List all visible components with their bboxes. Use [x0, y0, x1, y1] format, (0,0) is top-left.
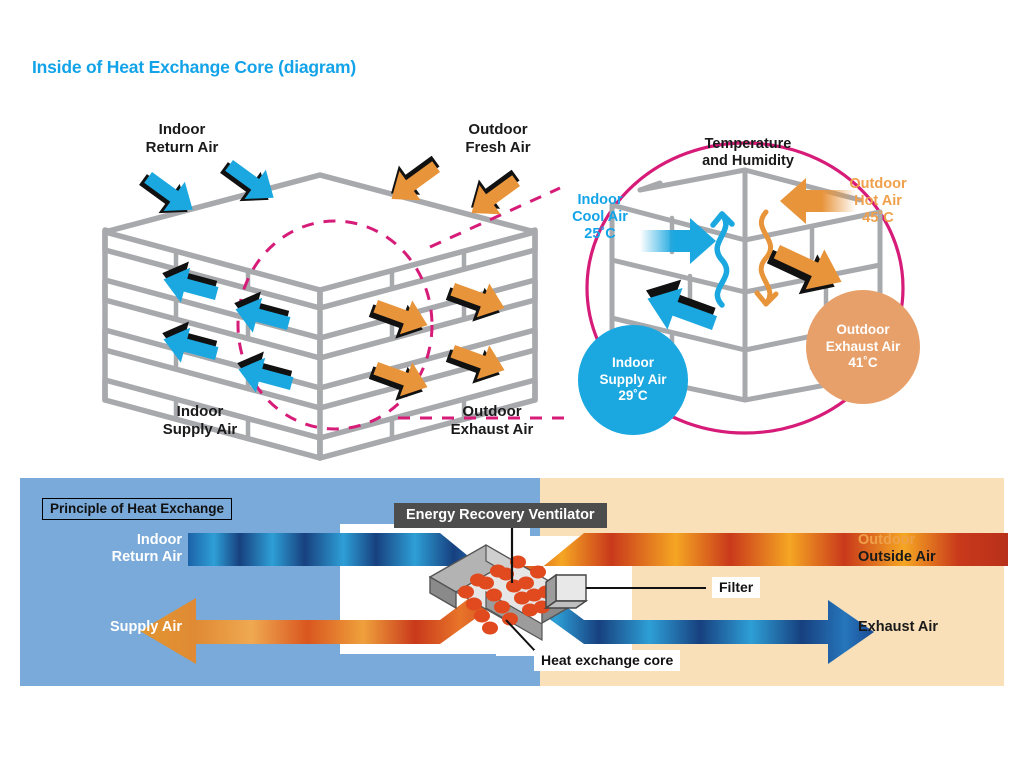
callout-filter: Filter: [712, 577, 760, 598]
label-energy-recovery-ventilator: Energy Recovery Ventilator: [394, 503, 607, 528]
label-panel-outside-air: Outdoor Outside Air: [858, 532, 936, 566]
label-panel-supply-air: Supply Air: [48, 619, 182, 636]
filter-graphic: [546, 575, 586, 608]
section-label-principle: Principle of Heat Exchange: [42, 498, 232, 520]
label-panel-exhaust-air: Exhaust Air: [858, 619, 938, 636]
principle-of-heat-exchange-illustration: [0, 0, 1024, 768]
diagram-canvas: Inside of Heat Exchange Core (diagram): [0, 0, 1024, 768]
label-panel-indoor-return-air: Indoor Return Air: [60, 532, 182, 566]
callout-heat-exchange-core: Heat exchange core: [534, 650, 680, 671]
